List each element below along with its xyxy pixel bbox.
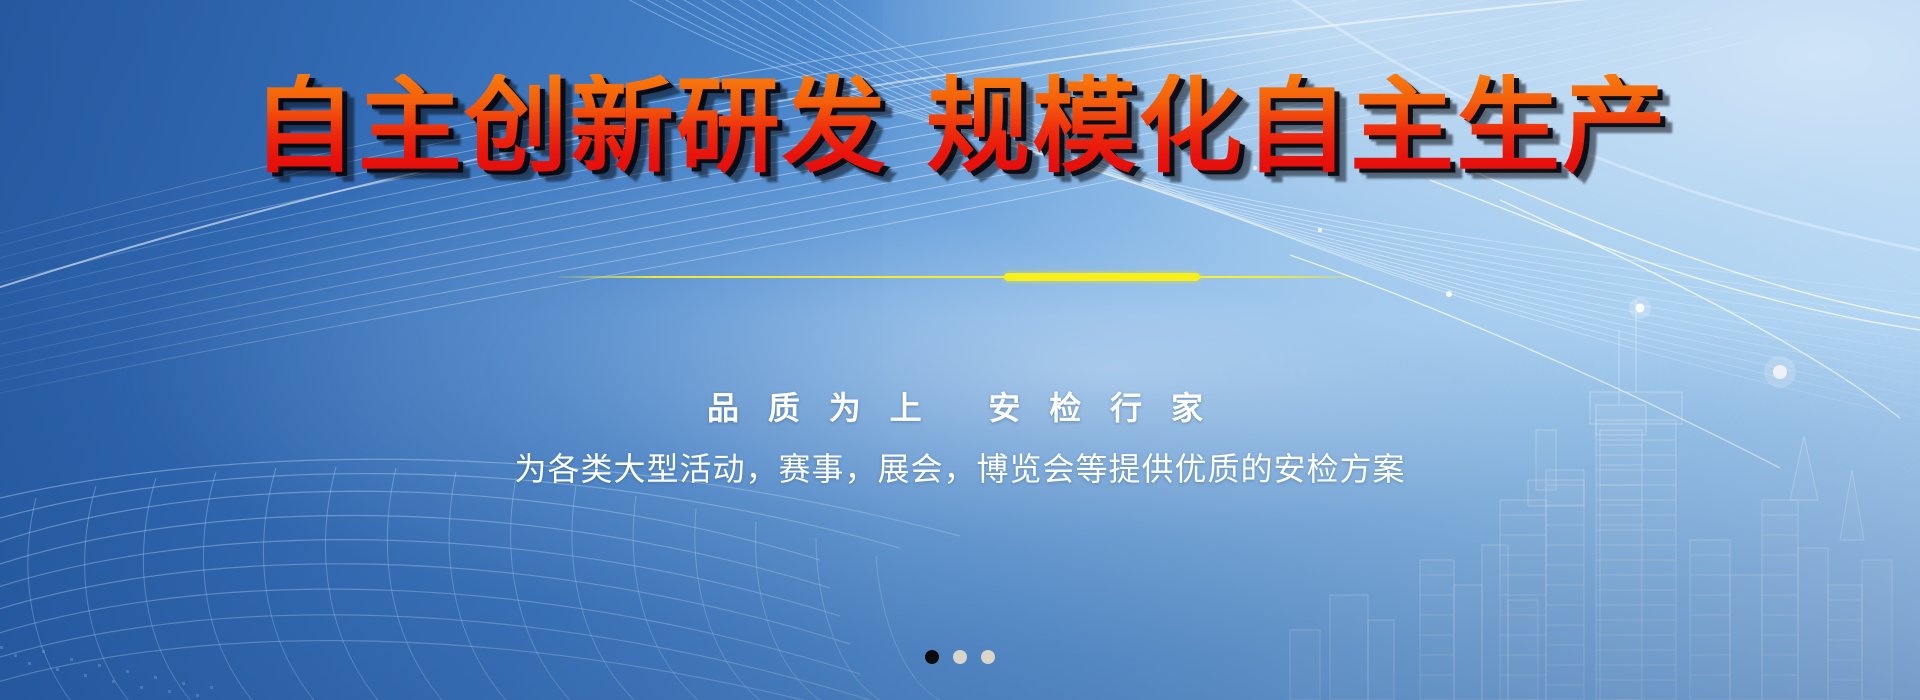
subtitle-secondary-container: 为各类大型活动，赛事，展会，博览会等提供优质的安检方案 xyxy=(0,444,1920,490)
carousel-dot-2[interactable] xyxy=(953,650,967,664)
background-bottom-shade xyxy=(0,315,1920,700)
headline-container: 自主创新研发 规模化自主生产 xyxy=(0,74,1920,178)
carousel-dots[interactable] xyxy=(925,650,995,664)
carousel-dot-3[interactable] xyxy=(981,650,995,664)
subtitle-primary: 品 质 为 上 安 检 行 家 xyxy=(707,383,1213,429)
hero-banner: 自主创新研发 规模化自主生产 品 质 为 上 安 检 行 家 为各类大型活动，赛… xyxy=(0,0,1920,700)
subtitle-primary-container: 品 质 为 上 安 检 行 家 xyxy=(0,383,1920,429)
carousel-dot-1[interactable] xyxy=(925,650,939,664)
divider-thin-line xyxy=(558,276,1362,278)
divider xyxy=(558,270,1362,284)
divider-accent-bar xyxy=(1004,273,1200,281)
subtitle-secondary: 为各类大型活动，赛事，展会，博览会等提供优质的安检方案 xyxy=(514,444,1405,490)
page-title: 自主创新研发 规模化自主生产 xyxy=(252,74,1668,178)
